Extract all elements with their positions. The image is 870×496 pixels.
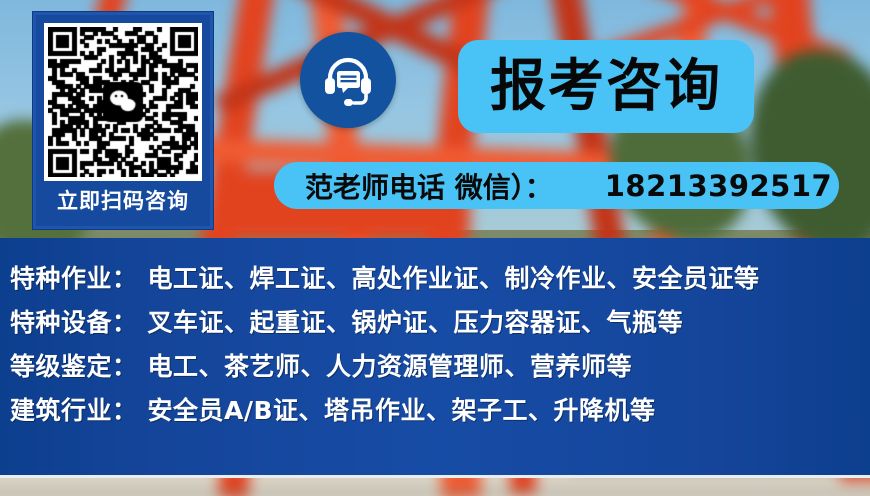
- service-row-value: 电工证、焊工证、高处作业证、制冷作业、安全员证等: [148, 259, 760, 295]
- contact-phone-number[interactable]: 18213392517: [605, 169, 832, 203]
- service-row-label: 特种设备：: [10, 303, 138, 339]
- service-row-label: 特种作业：: [10, 259, 138, 295]
- service-row-special-equipment: 特种设备： 叉车证、起重证、锅炉证、压力容器证、气瓶等: [10, 303, 870, 347]
- service-row-grade-assessment: 等级鉴定： 电工、茶艺师、人力资源管理师、营养师等: [10, 347, 870, 391]
- service-row-value: 安全员A/B证、塔吊作业、架子工、升降机等: [148, 391, 656, 427]
- service-row-value: 叉车证、起重证、锅炉证、压力容器证、气瓶等: [148, 303, 684, 339]
- page-title: 报考咨询: [490, 59, 722, 115]
- service-row-value: 电工、茶艺师、人力资源管理师、营养师等: [148, 347, 633, 383]
- qr-code-card[interactable]: 立即扫码咨询: [33, 12, 213, 229]
- service-row-label: 等级鉴定：: [10, 347, 138, 383]
- panel-bottom-divider: [0, 475, 870, 478]
- wechat-qr-code-icon[interactable]: [48, 27, 198, 177]
- services-panel: 特种作业： 电工证、焊工证、高处作业证、制冷作业、安全员证等 特种设备： 叉车证…: [0, 238, 870, 475]
- contact-label: 范老师电话 微信）：: [305, 166, 553, 206]
- service-row-construction-industry: 建筑行业： 安全员A/B证、塔吊作业、架子工、升降机等: [10, 391, 870, 435]
- service-row-special-operations: 特种作业： 电工证、焊工证、高处作业证、制冷作业、安全员证等: [10, 259, 870, 303]
- advertisement-banner: 立即扫码咨询 报考咨询 范老师电话 微信）： 18213392517 特种作业：…: [0, 0, 870, 496]
- qr-code-caption: 立即扫码咨询: [36, 185, 210, 215]
- headline-pill: 报考咨询: [458, 40, 754, 133]
- headset-support-icon: [300, 32, 396, 128]
- contact-pill[interactable]: 范老师电话 微信）： 18213392517: [274, 162, 839, 209]
- service-row-label: 建筑行业：: [10, 391, 138, 427]
- qr-code-image-wrapper: [44, 23, 202, 181]
